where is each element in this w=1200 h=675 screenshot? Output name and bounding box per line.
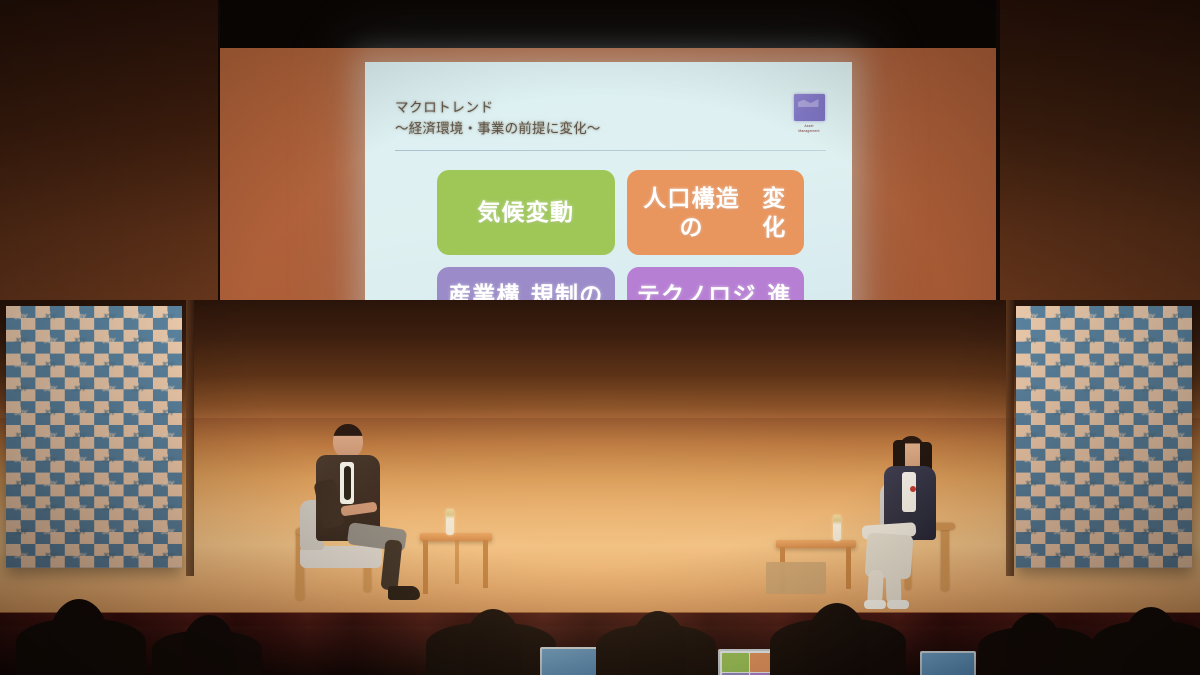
slide-title-line2: 〜経済環境・事業の前提に変化〜	[395, 119, 826, 140]
water-bottle-left	[446, 509, 454, 535]
slide-title: マクロトレンド 〜経済環境・事業の前提に変化〜	[395, 98, 826, 140]
slide-box-demographic-change: 人口構造の変化	[627, 170, 805, 255]
sponsor-backdrop-left: JOYJOYJOYJOYJOYJOYJOYJOYJOYJOYJOYJOYJOYJ…	[6, 306, 182, 568]
logo-caption: Asset Management	[788, 124, 830, 134]
sponsor-backdrop-right: JOYJOYJOYJOYJOYJOYJOYJOYJOYJOYJOYJOYJOYJ…	[1016, 306, 1192, 568]
water-bottle-right	[833, 515, 841, 541]
slide-box-climate-change: 気候変動	[437, 170, 615, 255]
backdrop-frame-right	[1006, 300, 1014, 576]
speaker-left-tie	[344, 466, 351, 500]
audience-row	[0, 565, 1200, 675]
audience-head	[48, 599, 110, 675]
auditorium-wall-right	[1000, 0, 1200, 330]
speaker-right-blouse	[902, 472, 916, 512]
auditorium-wall-left	[0, 0, 218, 330]
speaker-right-badge	[910, 486, 916, 492]
side-table-right-top	[776, 540, 856, 548]
backdrop-frame-left	[186, 300, 194, 576]
slide-title-line1: マクロトレンド	[395, 98, 826, 119]
speaker-left-head	[333, 424, 363, 458]
asset-management-logo-icon	[794, 94, 825, 121]
slide-logo: Asset Management	[788, 94, 830, 134]
slide-title-divider	[395, 150, 826, 151]
screen-top-frame	[190, 0, 1030, 48]
conference-stage-photo: マクロトレンド 〜経済環境・事業の前提に変化〜 Asset Management…	[0, 0, 1200, 675]
